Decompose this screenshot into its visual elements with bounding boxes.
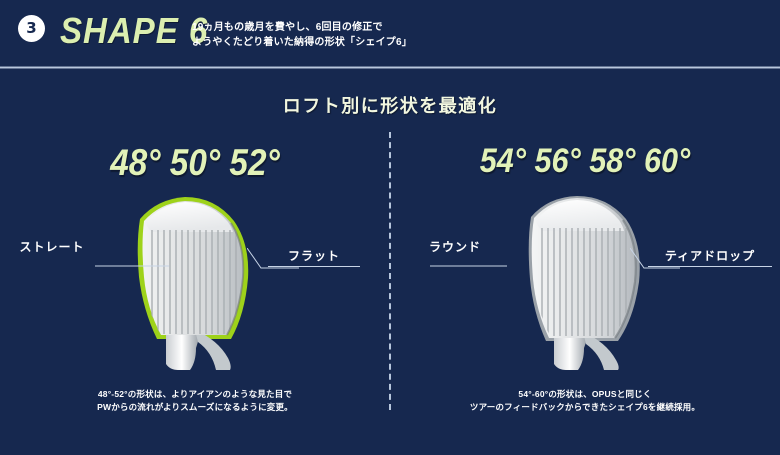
slide-root: 3 SHAPE 6 19ヵ月もの歳月を費やし、6回目の修正で ようやくたどり着い… (0, 0, 780, 455)
callout-teardrop: ティアドロップ (648, 247, 772, 267)
callout-flat: フラット (268, 247, 360, 267)
club-face-grooves (542, 228, 626, 340)
panel-caption-high-line-1: 54°-60°の形状は、OPUSと同じく (390, 388, 780, 401)
step-number-badge: 3 (18, 15, 45, 42)
loft-range-label: 48° 50° 52° (20, 142, 371, 184)
panel-low-lofts: 48° 50° 52° (0, 130, 390, 430)
panel-caption-low-line-1: 48°-52°の形状は、よりアイアンのような見た目で (0, 388, 390, 401)
header-subtitle: 19ヵ月もの歳月を費やし、6回目の修正で ようやくたどり着いた納得の形状「シェイ… (192, 20, 412, 50)
wedge-head-chrome-svg (490, 192, 680, 372)
callout-flat-underline (268, 266, 360, 267)
panel-caption-high: 54°-60°の形状は、OPUSと同じく ツアーのフィードバックからできたシェイ… (390, 388, 780, 414)
panel-caption-high-line-2: ツアーのフィードバックからできたシェイプ6を継続採用。 (390, 401, 780, 414)
page-title: SHAPE 6 (60, 10, 208, 52)
header-subtitle-line-2: ようやくたどり着いた納得の形状「シェイプ6」 (192, 35, 412, 50)
leader-line-left-low (95, 255, 170, 267)
panel-caption-low-line-2: PWからの流れがよりスムーズになるように変更。 (0, 401, 390, 414)
club-head-illustration-high (390, 192, 780, 372)
header-divider-rule (0, 66, 780, 69)
loft-range-label-high: 54° 56° 58° 60° (410, 142, 761, 181)
panel-high-lofts: 54° 56° 58° 60° (390, 130, 780, 430)
callout-straight: ストレート (12, 238, 92, 257)
callout-round-label: ラウンド (415, 238, 495, 257)
callout-round: ラウンド (415, 238, 495, 257)
callout-straight-label: ストレート (12, 238, 92, 257)
callout-teardrop-underline (648, 266, 772, 267)
club-head-illustration-low (0, 192, 390, 372)
header-subtitle-line-1: 19ヵ月もの歳月を費やし、6回目の修正で (192, 20, 412, 35)
panel-caption-low: 48°-52°の形状は、よりアイアンのような見た目で PWからの流れがよりスムー… (0, 388, 390, 414)
wedge-head-green-svg (100, 192, 290, 372)
callout-flat-label: フラット (268, 247, 360, 266)
section-title: ロフト別に形状を最適化 (0, 92, 780, 118)
club-face-grooves (152, 230, 236, 337)
slide-header: 3 SHAPE 6 19ヵ月もの歳月を費やし、6回目の修正で ようやくたどり着い… (0, 0, 780, 68)
callout-teardrop-label: ティアドロップ (648, 247, 772, 266)
